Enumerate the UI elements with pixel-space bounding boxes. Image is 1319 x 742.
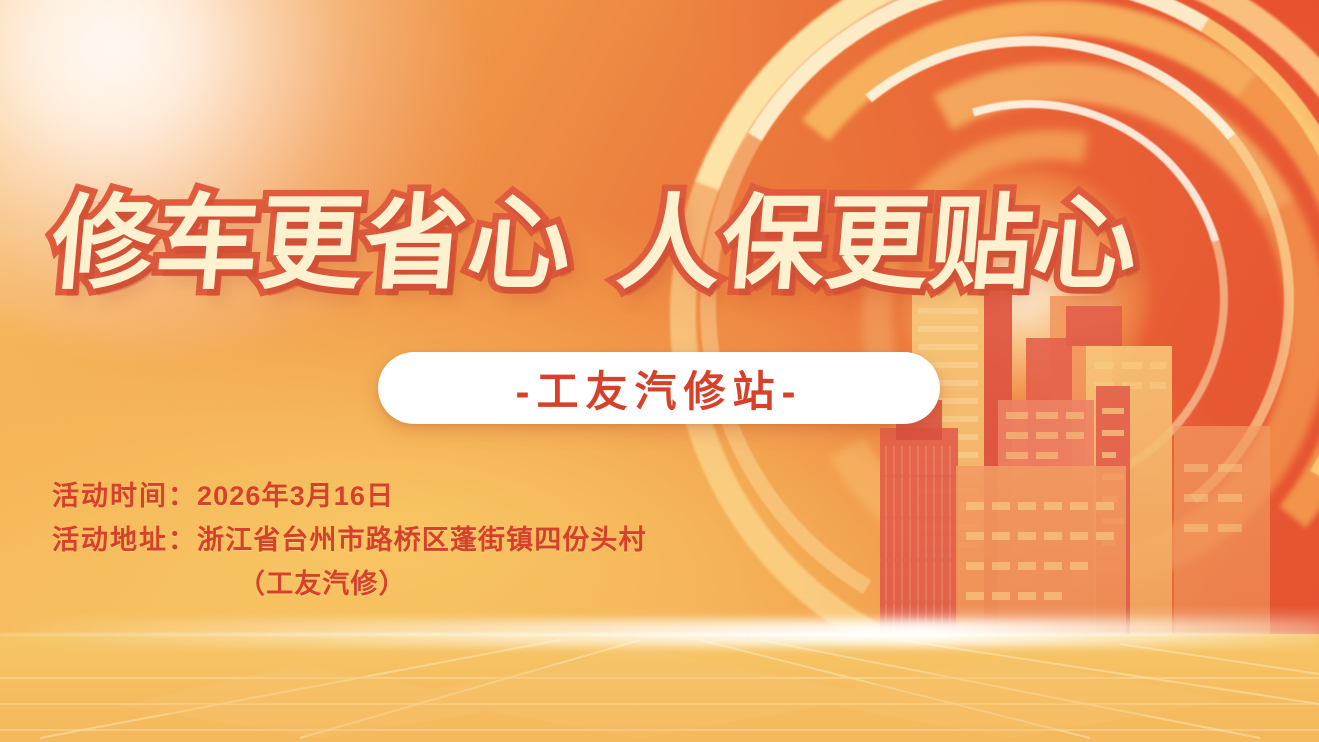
headline-part-2: 人保更贴心: [613, 186, 1143, 301]
horizon-line: [0, 633, 1319, 636]
city-skyline-icon: [880, 250, 1319, 670]
event-address-value: 浙江省台州市路桥区蓬街镇四份头村: [197, 525, 647, 555]
headline: 修车更省心人保更贴心: [47, 186, 1272, 301]
headline-part-1: 修车更省心: [47, 186, 577, 301]
event-address-value-line2: （工友汽修）: [238, 569, 407, 599]
event-address-label: 活动地址：: [52, 525, 197, 555]
subtitle-badge: -工友汽修站-: [378, 352, 940, 424]
event-info: 活动时间：2026年3月16日 活动地址：浙江省台州市路桥区蓬街镇四份头村 （工…: [52, 474, 647, 606]
event-time-label: 活动时间：: [52, 481, 197, 511]
event-time-value: 2026年3月16日: [197, 481, 394, 511]
promo-banner: 修车更省心人保更贴心 -工友汽修站- 活动时间：2026年3月16日 活动地址：…: [0, 0, 1319, 742]
event-address-row: 活动地址：浙江省台州市路桥区蓬街镇四份头村: [52, 518, 647, 562]
subtitle-badge-label: -工友汽修站-: [516, 358, 803, 419]
perspective-floor-grid: [0, 634, 1319, 742]
event-address-row-2: （工友汽修）: [52, 562, 647, 606]
event-time-row: 活动时间：2026年3月16日: [52, 474, 647, 518]
